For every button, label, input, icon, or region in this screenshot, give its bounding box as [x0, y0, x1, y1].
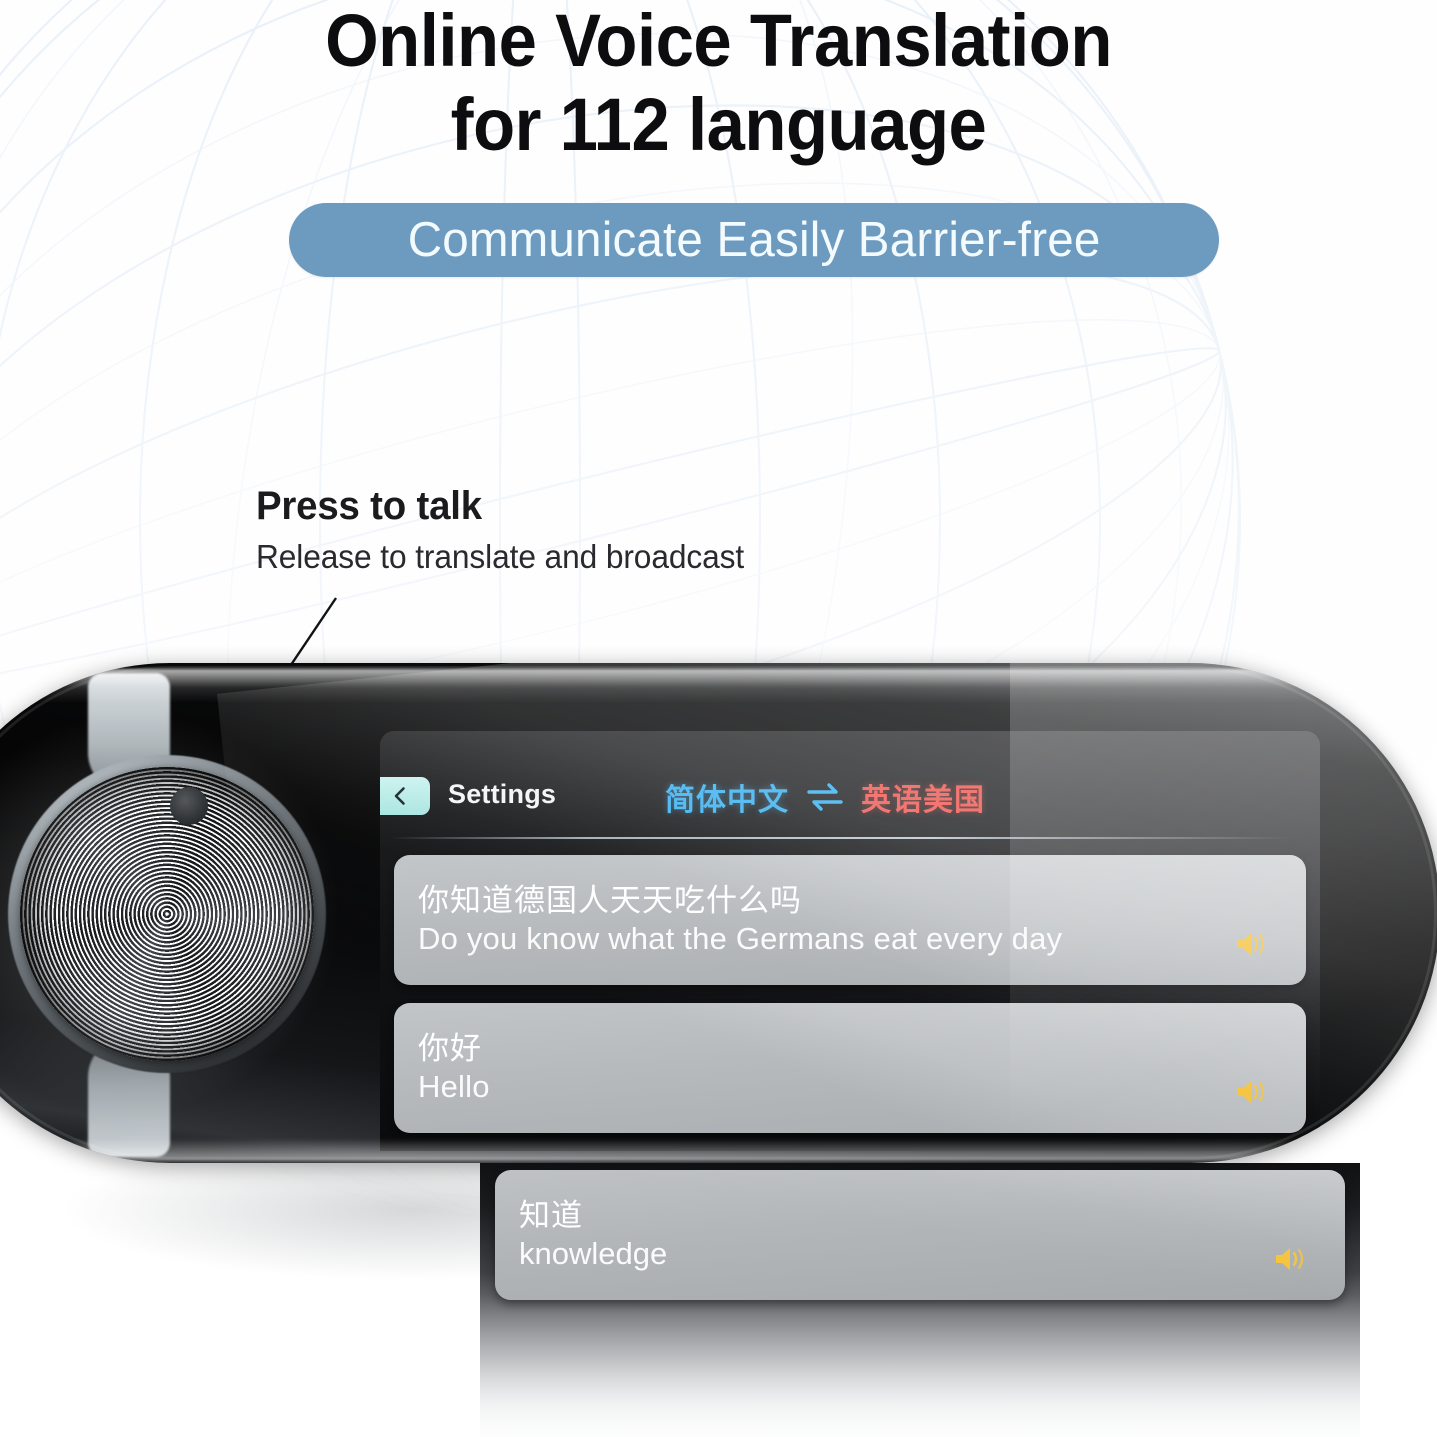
device-rim-outline — [0, 666, 1437, 1160]
tagline-text: Communicate Easily Barrier-free — [408, 216, 1101, 265]
page-title: Online Voice Translation for 112 languag… — [50, 4, 1386, 162]
callout-title: Press to talk — [256, 484, 744, 529]
product-marketing-image: Online Voice Translation for 112 languag… — [0, 0, 1437, 1437]
press-to-talk-callout: Press to talk Release to translate and b… — [256, 484, 764, 576]
callout-subtitle: Release to translate and broadcast — [256, 538, 744, 576]
headline-line-2: for 112 language — [50, 88, 1386, 162]
tagline-banner: Communicate Easily Barrier-free — [289, 203, 1219, 277]
speaker-icon[interactable] — [1273, 1244, 1307, 1274]
headline-line-1: Online Voice Translation — [50, 4, 1386, 78]
translator-device: Settings 简体中文 英语美国 你知道德国人天天吃什么吗 — [0, 663, 1437, 1183]
card-translation-text: knowledge — [519, 1236, 667, 1272]
card-gloss — [495, 1170, 1345, 1300]
card-source-text: 知道 — [519, 1190, 583, 1235]
device-body: Settings 简体中文 英语美国 你知道德国人天天吃什么吗 — [0, 663, 1437, 1163]
translation-card[interactable]: 知道 knowledge — [495, 1170, 1345, 1300]
